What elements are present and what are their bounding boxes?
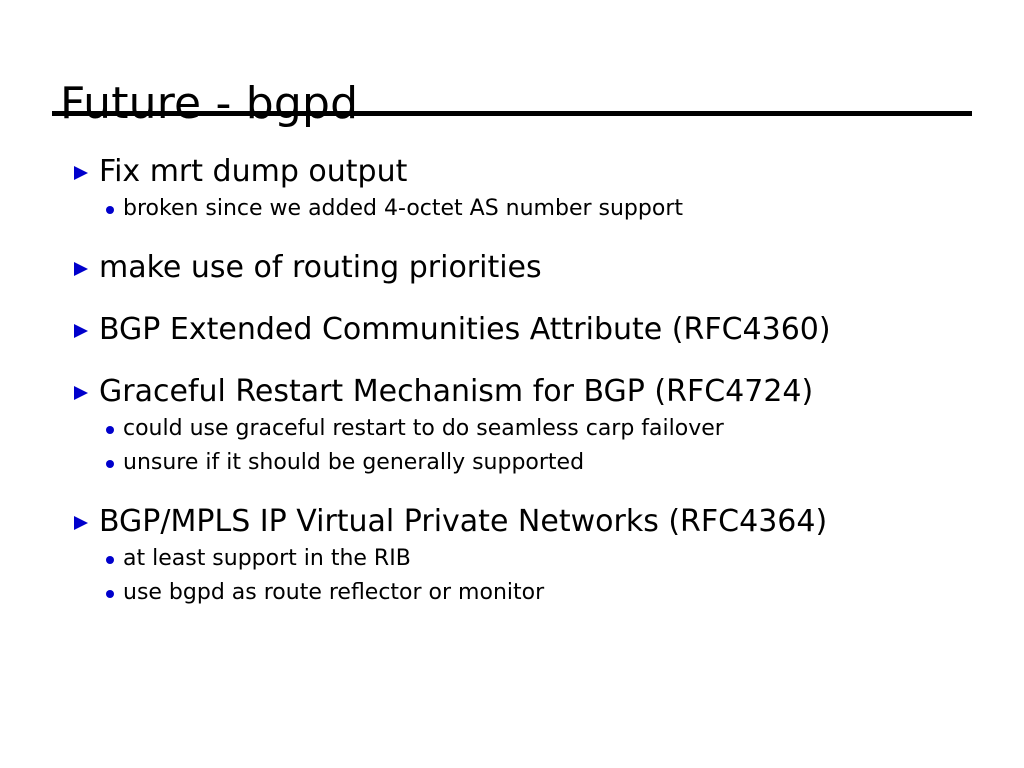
slide-body: Fix mrt dump output broken since we adde… (0, 152, 1024, 610)
bullet-label: BGP Extended Communities Attribute (RFC4… (99, 310, 831, 350)
sub-bullet-label: at least support in the RIB (123, 542, 411, 576)
list-item: make use of routing priorities (0, 248, 1024, 288)
bullet-label: BGP/MPLS IP Virtual Private Networks (RF… (99, 502, 827, 542)
bullet-label: make use of routing priorities (99, 248, 542, 288)
round-dot-bullet-icon (105, 589, 115, 599)
title-divider (52, 111, 972, 116)
page-title: Future - bgpd (60, 81, 358, 127)
bullet-group: Fix mrt dump output broken since we adde… (0, 152, 1024, 226)
list-item: BGP/MPLS IP Virtual Private Networks (RF… (0, 502, 1024, 542)
triangle-right-bullet-icon (72, 322, 92, 340)
list-item: BGP Extended Communities Attribute (RFC4… (0, 310, 1024, 350)
bullet-group: Graceful Restart Mechanism for BGP (RFC4… (0, 372, 1024, 480)
bullet-label: Graceful Restart Mechanism for BGP (RFC4… (99, 372, 813, 412)
sub-bullet-label: use bgpd as route reflector or monitor (123, 576, 544, 610)
sub-bullet-list: broken since we added 4-octet AS number … (0, 192, 1024, 226)
sub-bullet-label: could use graceful restart to do seamles… (123, 412, 724, 446)
round-dot-bullet-icon (105, 459, 115, 469)
sub-bullet-label: unsure if it should be generally support… (123, 446, 584, 480)
triangle-right-bullet-icon (72, 260, 92, 278)
round-dot-bullet-icon (105, 425, 115, 435)
sub-bullet-label: broken since we added 4-octet AS number … (123, 192, 683, 226)
round-dot-bullet-icon (105, 555, 115, 565)
bullet-label: Fix mrt dump output (99, 152, 407, 192)
list-item: use bgpd as route reflector or monitor (0, 576, 1024, 610)
presentation-slide: Future - bgpd Fix mrt dump output broken… (0, 0, 1024, 768)
list-item: Graceful Restart Mechanism for BGP (RFC4… (0, 372, 1024, 412)
list-item: at least support in the RIB (0, 542, 1024, 576)
round-dot-bullet-icon (105, 205, 115, 215)
bullet-group: make use of routing priorities (0, 248, 1024, 288)
bullet-group: BGP/MPLS IP Virtual Private Networks (RF… (0, 502, 1024, 610)
list-item: broken since we added 4-octet AS number … (0, 192, 1024, 226)
triangle-right-bullet-icon (72, 384, 92, 402)
bullet-group: BGP Extended Communities Attribute (RFC4… (0, 310, 1024, 350)
list-item: Fix mrt dump output (0, 152, 1024, 192)
list-item: unsure if it should be generally support… (0, 446, 1024, 480)
triangle-right-bullet-icon (72, 514, 92, 532)
sub-bullet-list: could use graceful restart to do seamles… (0, 412, 1024, 480)
list-item: could use graceful restart to do seamles… (0, 412, 1024, 446)
sub-bullet-list: at least support in the RIB use bgpd as … (0, 542, 1024, 610)
triangle-right-bullet-icon (72, 164, 92, 182)
